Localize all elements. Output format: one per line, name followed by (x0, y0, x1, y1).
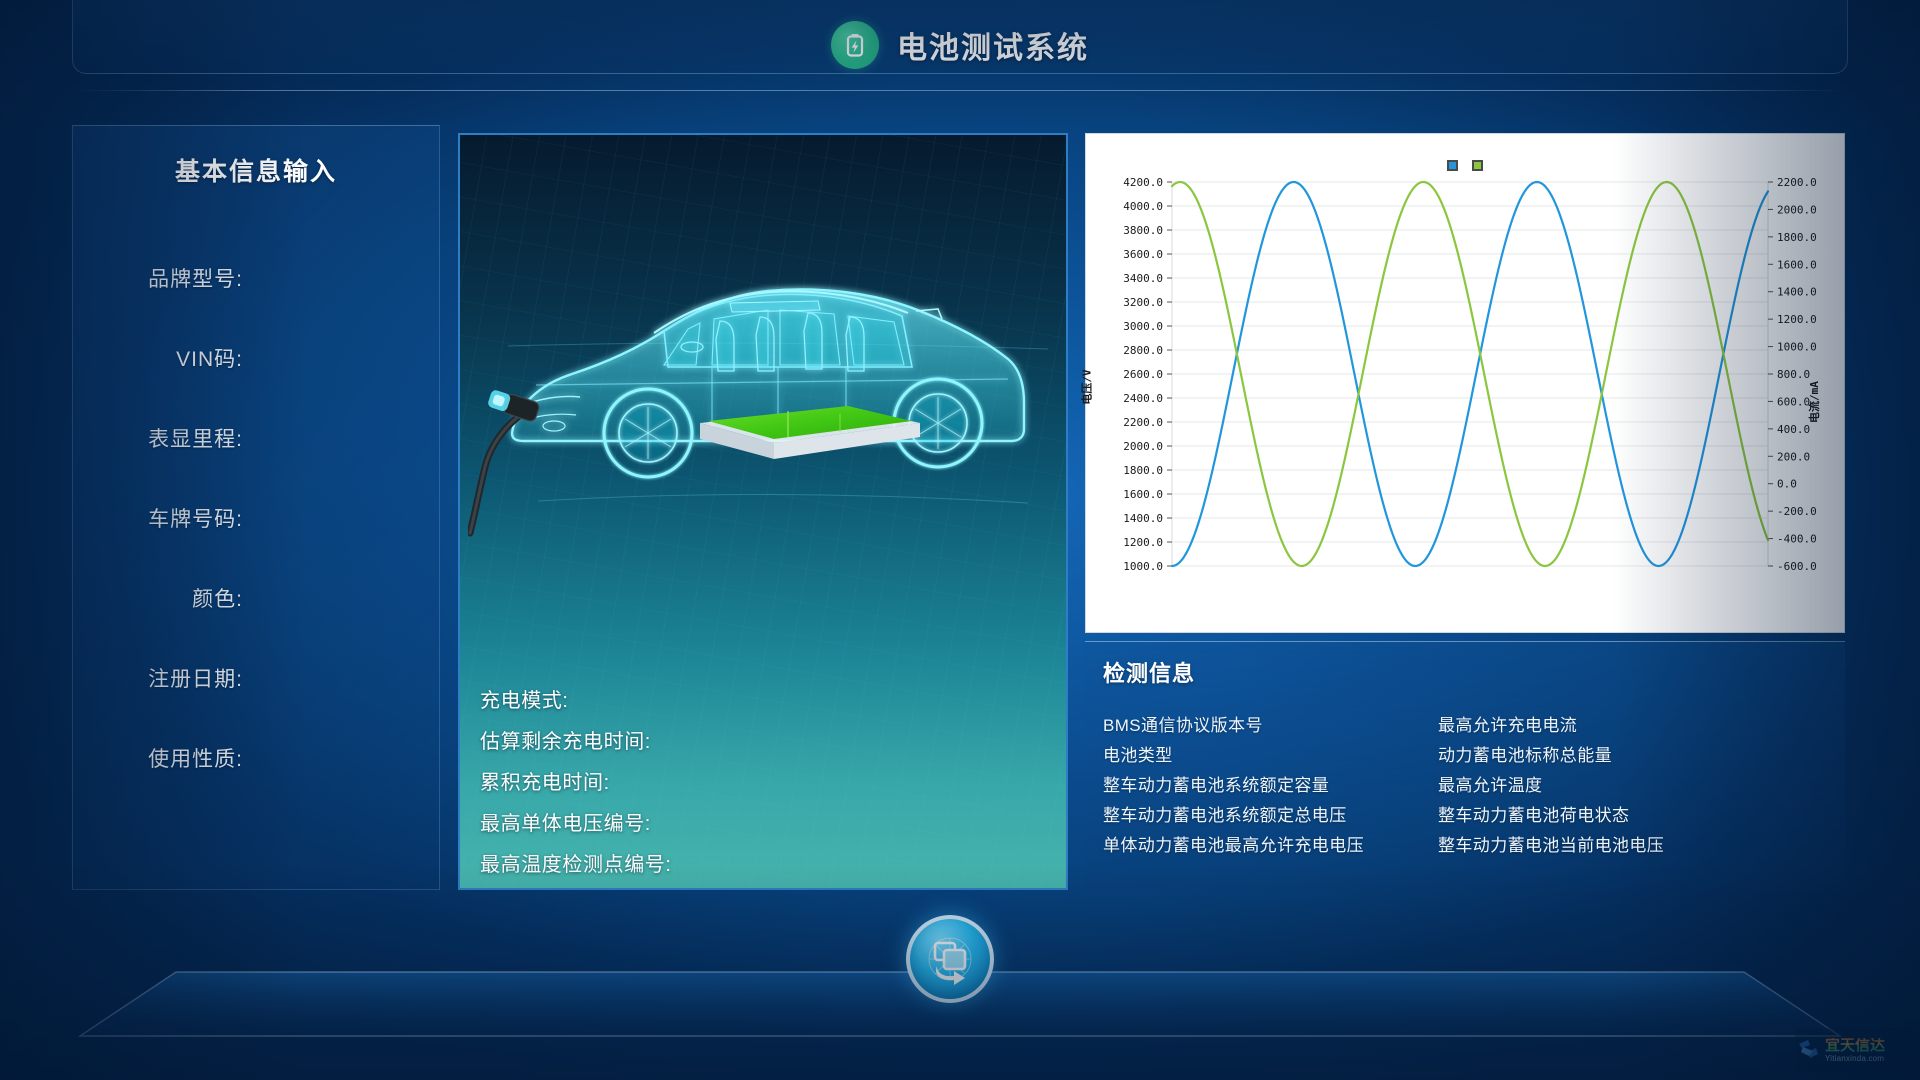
info-item-rated-total-voltage[interactable]: 整车动力蓄电池系统额定总电压 (1103, 798, 1438, 828)
chart-plot-area: 1000.01200.01400.01600.01800.02000.02200… (1086, 134, 1846, 634)
svg-text:3400.0: 3400.0 (1123, 272, 1163, 285)
svg-text:2200.0: 2200.0 (1123, 416, 1163, 429)
svg-text:-200.0: -200.0 (1777, 505, 1817, 518)
svg-text:1200.0: 1200.0 (1777, 313, 1817, 326)
svg-text:2000.0: 2000.0 (1123, 440, 1163, 453)
info-item-battery-type[interactable]: 电池类型 (1103, 738, 1438, 768)
svg-text:3800.0: 3800.0 (1123, 224, 1163, 237)
info-item-max-allowed-charge-current[interactable]: 最高允许充电电流 (1438, 708, 1845, 738)
svg-text:1800.0: 1800.0 (1777, 231, 1817, 244)
svg-text:-600.0: -600.0 (1777, 560, 1817, 573)
field-label: 估算剩余充电时间: (480, 725, 651, 754)
svg-text:4000.0: 4000.0 (1123, 200, 1163, 213)
svg-text:2800.0: 2800.0 (1123, 344, 1163, 357)
svg-text:400.0: 400.0 (1777, 423, 1810, 436)
vehicle-visual-panel: 充电模式: 估算剩余充电时间: 累积充电时间: 最高单体电压编号: 最高温度检测… (458, 133, 1068, 890)
field-color[interactable]: 颜色: (73, 558, 439, 638)
field-label: 颜色: (192, 583, 243, 613)
field-label: 累积充电时间: (480, 766, 610, 795)
svg-text:1000.0: 1000.0 (1123, 560, 1163, 573)
field-label: 最低温度监检测点编号: (480, 889, 692, 890)
field-label: 注册日期: (148, 663, 243, 693)
page-title: 电池测试系统 (897, 23, 1089, 67)
svg-text:1400.0: 1400.0 (1123, 512, 1163, 525)
svg-text:2600.0: 2600.0 (1123, 368, 1163, 381)
detection-info-grid: BMS通信协议版本号 最高允许充电电流 电池类型 动力蓄电池标称总能量 整车动力… (1103, 708, 1845, 858)
svg-text:1200.0: 1200.0 (1123, 536, 1163, 549)
info-item-nominal-total-energy[interactable]: 动力蓄电池标称总能量 (1438, 738, 1845, 768)
field-cumulative-charge-time[interactable]: 累积充电时间: (480, 760, 1068, 801)
switch-view-button[interactable] (906, 915, 994, 1003)
svg-text:1800.0: 1800.0 (1123, 464, 1163, 477)
svg-text:0.0: 0.0 (1777, 478, 1797, 491)
info-item-rated-capacity[interactable]: 整车动力蓄电池系统额定容量 (1103, 768, 1438, 798)
basic-info-panel: 基本信息输入 品牌型号: VIN码: 表显里程: 车牌号码: 颜色: 注册日期:… (72, 125, 440, 890)
svg-text:3600.0: 3600.0 (1123, 248, 1163, 261)
field-register-date[interactable]: 注册日期: (73, 638, 439, 718)
field-label: 车牌号码: (148, 503, 243, 533)
field-label: 最高单体电压编号: (480, 807, 651, 836)
field-plate-number[interactable]: 车牌号码: (73, 478, 439, 558)
svg-text:1400.0: 1400.0 (1777, 286, 1817, 299)
field-label: 表显里程: (148, 423, 243, 453)
charging-field-list: 充电模式: 估算剩余充电时间: 累积充电时间: 最高单体电压编号: 最高温度检测… (480, 678, 1068, 890)
y2-axis-label-current: 电流/mA (1806, 381, 1822, 423)
svg-text:2400.0: 2400.0 (1123, 392, 1163, 405)
watermark-text: 宜天信达 Yitianxinda.com (1825, 1038, 1885, 1063)
field-charge-mode[interactable]: 充电模式: (480, 678, 1068, 719)
info-item-bms-protocol-version[interactable]: BMS通信协议版本号 (1103, 708, 1438, 738)
field-label: 最高温度检测点编号: (480, 848, 672, 877)
battery-icon (831, 21, 879, 69)
sidebar-title: 基本信息输入 (73, 152, 439, 188)
watermark-logo-icon (1795, 1037, 1821, 1063)
field-usage-type[interactable]: 使用性质: (73, 718, 439, 798)
header-divider (72, 90, 1848, 91)
field-max-cell-voltage-number[interactable]: 最高单体电压编号: (480, 801, 1068, 842)
info-item-current-battery-voltage[interactable]: 整车动力蓄电池当前电池电压 (1438, 828, 1845, 858)
field-label: 充电模式: (480, 684, 569, 713)
field-label: VIN码: (176, 343, 243, 373)
watermark-cn: 宜天信达 (1825, 1038, 1885, 1053)
watermark-en: Yitianxinda.com (1825, 1055, 1885, 1063)
svg-text:1600.0: 1600.0 (1777, 258, 1817, 271)
field-max-temp-probe-number[interactable]: 最高温度检测点编号: (480, 842, 1068, 883)
field-brand-model[interactable]: 品牌型号: (73, 238, 439, 318)
info-item-max-allowed-temperature[interactable]: 最高允许温度 (1438, 768, 1845, 798)
info-item-state-of-charge[interactable]: 整车动力蓄电池荷电状态 (1438, 798, 1845, 828)
info-item-cell-max-charge-voltage[interactable]: 单体动力蓄电池最高允许充电电压 (1103, 828, 1438, 858)
svg-text:1600.0: 1600.0 (1123, 488, 1163, 501)
field-label: 品牌型号: (148, 263, 243, 293)
field-min-temp-probe-number[interactable]: 最低温度监检测点编号: (480, 883, 1068, 890)
y-axis-label-voltage: 电压/V (1079, 369, 1095, 404)
sidebar-field-list: 品牌型号: VIN码: 表显里程: 车牌号码: 颜色: 注册日期: 使用性质: (73, 238, 439, 798)
ev-car-xray-illustration (468, 171, 1062, 591)
header-bar: 电池测试系统 (0, 0, 1920, 90)
svg-text:1000.0: 1000.0 (1777, 341, 1817, 354)
field-odometer[interactable]: 表显里程: (73, 398, 439, 478)
field-label: 使用性质: (148, 743, 243, 773)
waveform-chart-panel[interactable]: 1000.01200.01400.01600.01800.02000.02200… (1085, 133, 1845, 633)
svg-text:200.0: 200.0 (1777, 450, 1810, 463)
svg-text:2000.0: 2000.0 (1777, 203, 1817, 216)
svg-text:3000.0: 3000.0 (1123, 320, 1163, 333)
field-vin[interactable]: VIN码: (73, 318, 439, 398)
detection-info-title: 检测信息 (1103, 656, 1195, 688)
svg-text:3200.0: 3200.0 (1123, 296, 1163, 309)
svg-text:4200.0: 4200.0 (1123, 176, 1163, 189)
svg-text:2200.0: 2200.0 (1777, 176, 1817, 189)
field-estimated-remaining-charge-time[interactable]: 估算剩余充电时间: (480, 719, 1068, 760)
detection-info-panel: 检测信息 BMS通信协议版本号 最高允许充电电流 电池类型 动力蓄电池标称总能量… (1085, 641, 1845, 890)
svg-text:-400.0: -400.0 (1777, 533, 1817, 546)
watermark: 宜天信达 Yitianxinda.com (1795, 1028, 1913, 1072)
svg-text:800.0: 800.0 (1777, 368, 1810, 381)
